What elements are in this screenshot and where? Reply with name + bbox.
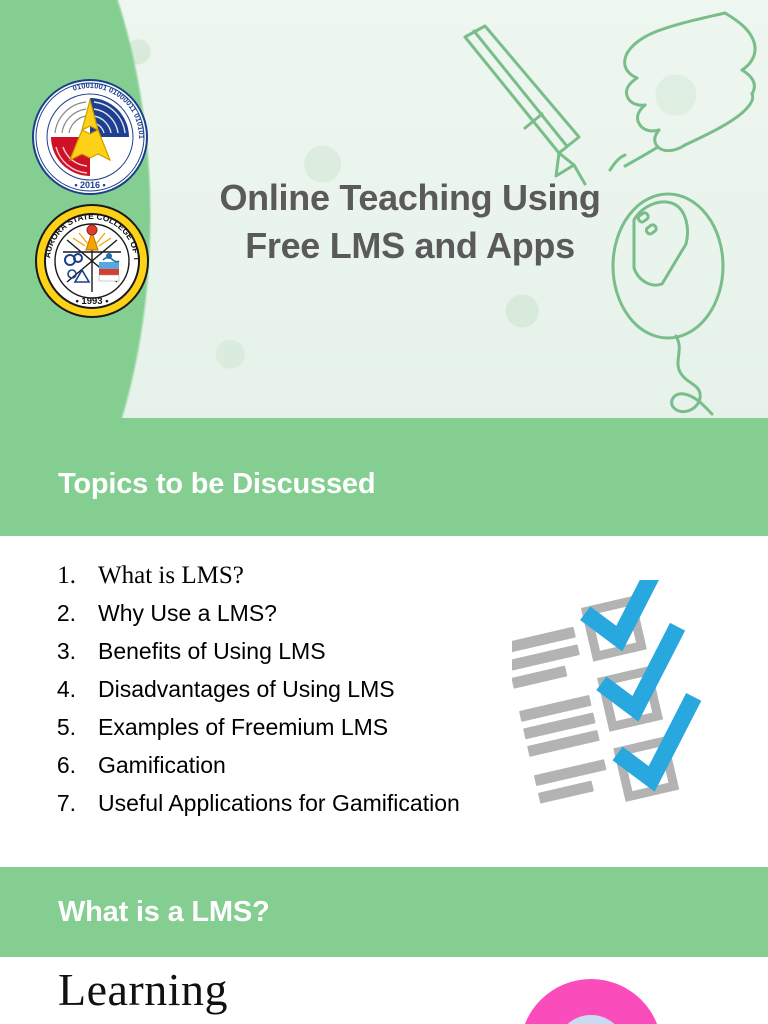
lms-heading-band: What is a LMS? bbox=[0, 867, 768, 957]
list-item: 7. Useful Applications for Gamification bbox=[56, 790, 460, 828]
list-item-number: 1. bbox=[56, 562, 98, 590]
topics-slide: Topics to be Discussed 1. What is LMS? 2… bbox=[0, 432, 768, 864]
svg-text:• 1993 •: • 1993 • bbox=[75, 296, 109, 307]
list-item: 1. What is LMS? bbox=[56, 562, 460, 600]
list-item: 3. Benefits of Using LMS bbox=[56, 638, 460, 676]
svg-text:• 2016 •: • 2016 • bbox=[74, 180, 105, 190]
list-item-number: 6. bbox=[56, 752, 98, 779]
list-item-number: 7. bbox=[56, 790, 98, 817]
list-item-label: Disadvantages of Using LMS bbox=[98, 676, 395, 703]
title-slide: 01001001 01000011 01010100 01000100 • 20… bbox=[0, 0, 768, 432]
checklist-icon bbox=[512, 580, 712, 830]
aurora-state-college-seal-icon: AURORA STATE COLLEGE OF TECHNOLOGY • 199… bbox=[33, 200, 151, 322]
list-item-number: 3. bbox=[56, 638, 98, 665]
list-item-label: Benefits of Using LMS bbox=[98, 638, 326, 665]
lms-body: Learning bbox=[0, 957, 768, 1024]
list-item-number: 5. bbox=[56, 714, 98, 741]
lms-body-text: Learning bbox=[58, 963, 228, 1016]
slide-deck: 01001001 01000011 01010100 01000100 • 20… bbox=[0, 0, 768, 1024]
list-item: 6. Gamification bbox=[56, 752, 460, 790]
what-is-lms-slide: What is a LMS? Learning bbox=[0, 864, 768, 1024]
page-title: Online Teaching Using Free LMS and Apps bbox=[150, 174, 670, 269]
lms-heading: What is a LMS? bbox=[58, 896, 270, 929]
cict-seal-icon: 01001001 01000011 01010100 01000100 • 20… bbox=[30, 78, 150, 196]
list-item-number: 2. bbox=[56, 600, 98, 627]
list-item-label: Useful Applications for Gamification bbox=[98, 790, 460, 817]
list-item-label: What is LMS? bbox=[98, 562, 244, 590]
topics-list: 1. What is LMS? 2. Why Use a LMS? 3. Ben… bbox=[56, 562, 460, 828]
list-item: 5. Examples of Freemium LMS bbox=[56, 714, 460, 752]
list-item: 2. Why Use a LMS? bbox=[56, 600, 460, 638]
title-bottom-strip bbox=[0, 418, 768, 432]
list-item-label: Why Use a LMS? bbox=[98, 600, 277, 627]
list-item-number: 4. bbox=[56, 676, 98, 703]
list-item: 4. Disadvantages of Using LMS bbox=[56, 676, 460, 714]
list-item-label: Gamification bbox=[98, 752, 226, 779]
list-item-label: Examples of Freemium LMS bbox=[98, 714, 388, 741]
topics-heading-band: Topics to be Discussed bbox=[0, 432, 768, 536]
topics-heading: Topics to be Discussed bbox=[58, 468, 375, 501]
